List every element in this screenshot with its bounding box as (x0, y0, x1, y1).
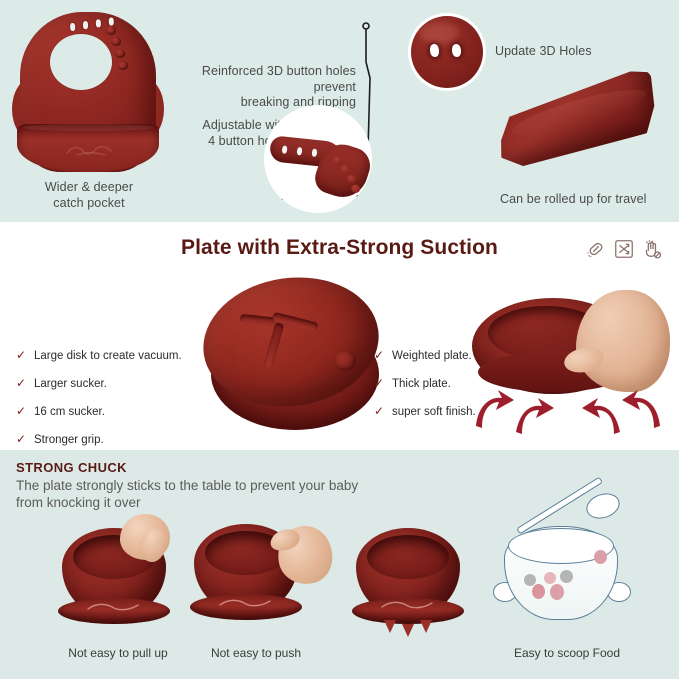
bib-caption: Wider & deeper catch pocket (14, 180, 164, 211)
update-3d-holes-bubble (411, 16, 483, 88)
update-3d-holes-label: Update 3D Holes (495, 44, 665, 60)
suction-plate-image (203, 278, 389, 434)
caption-easy-scoop-food: Easy to scoop Food (488, 646, 646, 660)
bib-catch-pocket (17, 124, 159, 172)
feature-label: Thick plate. (392, 377, 451, 391)
brand-swash-icon (65, 144, 119, 158)
food-piece-grey-2 (560, 570, 573, 583)
feature-item: ✓ Stronger grip. (16, 433, 196, 447)
check-icon: ✓ (16, 405, 27, 418)
feature-label: super soft finish. (392, 405, 476, 419)
infographic-page: Wider & deeper catch pocket Reinforced 3… (0, 0, 679, 679)
no-slip-icon (585, 238, 607, 260)
bib-pocket-lip (23, 124, 153, 131)
check-icon: ✓ (374, 349, 385, 362)
suction-spike-right (420, 620, 432, 633)
3d-hole-right (451, 44, 461, 58)
check-icon: ✓ (16, 349, 27, 362)
bowl-logo-icon (218, 596, 278, 610)
feature-item: ✓ 16 cm sucker. (16, 405, 196, 419)
plate-right-feature-list: ✓ Weighted plate. ✓ Thick plate. ✓ super… (374, 349, 484, 433)
feature-label: Weighted plate. (392, 349, 472, 363)
strong-chuck-section: STRONG CHUCK The plate strongly sticks t… (0, 450, 679, 679)
3d-hole-left (429, 44, 439, 58)
white-bowl (494, 516, 630, 630)
scoop-food-illustration (494, 514, 634, 632)
caption-not-easy-push: Not easy to push (182, 646, 330, 660)
feature-label: Large disk to create vacuum. (34, 349, 182, 363)
bubble-highlight (419, 22, 459, 44)
bib-brand-logo (65, 144, 119, 158)
rolled-bib-caption: Can be rolled up for travel (500, 192, 676, 208)
feature-item: ✓ Thick plate. (374, 377, 484, 391)
silicone-bib-image (14, 8, 162, 176)
plate-with-hand-image (468, 282, 670, 438)
plate-dividers (235, 308, 328, 377)
check-icon: ✓ (374, 405, 385, 418)
bowl-push-image (190, 514, 326, 632)
feature-label: 16 cm sucker. (34, 405, 105, 419)
hand-no-touch-icon (641, 238, 663, 260)
rolled-bib-image (495, 78, 659, 170)
feature-item: ✓ super soft finish. (374, 405, 484, 419)
suction-force-arrows (468, 376, 670, 436)
check-icon: ✓ (16, 433, 27, 446)
bowl-suction-spikes-image (348, 514, 474, 632)
suction-spike-left (384, 620, 396, 633)
food-piece-pink-3 (550, 584, 564, 600)
plate-release-tab (333, 349, 358, 372)
feature-item: ✓ Weighted plate. (374, 349, 484, 363)
check-icon: ✓ (16, 377, 27, 390)
button-holes-callout-circle (264, 105, 372, 213)
feature-item: ✓ Larger sucker. (16, 377, 196, 391)
strong-chuck-heading: STRONG CHUCK (16, 460, 127, 475)
feature-label: Larger sucker. (34, 377, 107, 391)
plate-feature-icons (585, 238, 663, 260)
bib-feature-section: Wider & deeper catch pocket Reinforced 3… (0, 0, 679, 222)
bib-strap-buttons (106, 26, 146, 78)
bowl-cavity (367, 535, 449, 579)
caption-not-easy-pull-up: Not easy to pull up (44, 646, 192, 660)
bowl-pull-up-image (56, 514, 180, 632)
bowl-logo-icon (380, 598, 440, 612)
food-piece-on-spoon (594, 550, 607, 564)
bib-neck-opening (50, 34, 112, 90)
feature-label: Stronger grip. (34, 433, 104, 447)
spoon-bowl (583, 489, 623, 522)
plate-section-title: Plate with Extra-Strong Suction (0, 236, 679, 260)
bowl-logo-icon (86, 600, 146, 614)
plate-left-feature-list: ✓ Large disk to create vacuum. ✓ Larger … (16, 349, 196, 461)
shuffle-box-icon (613, 238, 635, 260)
food-piece-pink-1 (544, 572, 556, 584)
strong-chuck-body: The plate strongly sticks to the table t… (16, 477, 446, 511)
suction-spike-middle (402, 624, 414, 637)
check-icon: ✓ (374, 377, 385, 390)
food-piece-pink-2 (532, 584, 545, 599)
feature-item: ✓ Large disk to create vacuum. (16, 349, 196, 363)
